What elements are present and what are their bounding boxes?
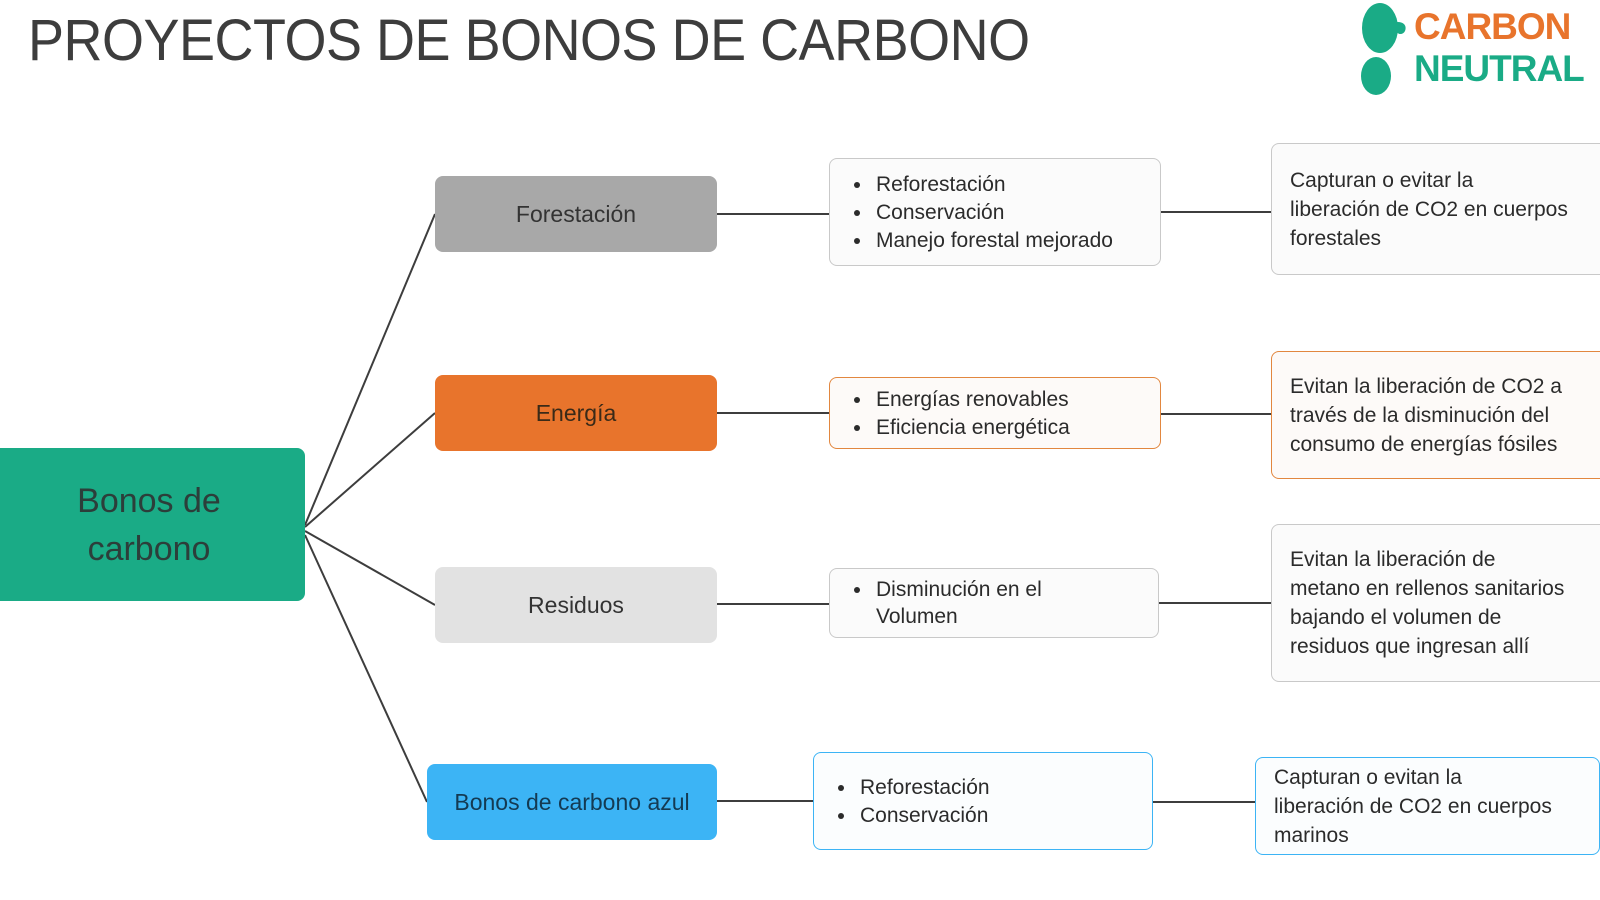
connector-root-to-azul — [305, 535, 427, 802]
logo-line-carbon: CARBON — [1414, 6, 1600, 48]
description-text: Capturan o evitan la liberación de CO2 e… — [1274, 763, 1552, 850]
description-box-energia[interactable]: Evitan la liberación de CO2 a través de … — [1271, 351, 1600, 479]
connector-root-to-energia — [305, 413, 435, 527]
description-box-forestacion[interactable]: Capturan o evitar la liberación de CO2 e… — [1271, 143, 1600, 275]
description-box-bonos-de-carbono-azul[interactable]: Capturan o evitan la liberación de CO2 e… — [1255, 757, 1600, 855]
category-node-forestacion[interactable]: Forestación — [435, 176, 717, 252]
category-label: Bonos de carbono azul — [454, 787, 689, 817]
list: Reforestación Conservación Manejo forest… — [830, 170, 1160, 255]
list-item: Reforestación — [852, 171, 1144, 198]
description-box-residuos[interactable]: Evitan la liberación de metano en rellen… — [1271, 524, 1600, 682]
list-item: Disminución en el Volumen — [852, 576, 1042, 630]
root-node-label: Bonos de carbono — [17, 477, 281, 573]
category-node-bonos-de-carbono-azul[interactable]: Bonos de carbono azul — [427, 764, 717, 840]
category-label: Forestación — [516, 199, 636, 229]
category-node-residuos[interactable]: Residuos — [435, 567, 717, 643]
list-item: Energías renovables — [852, 386, 1144, 413]
list-item: Conservación — [852, 199, 1144, 226]
root-node-bonos-de-carbono[interactable]: Bonos de carbono — [0, 448, 305, 601]
category-node-energia[interactable]: Energía — [435, 375, 717, 451]
item-list-forestacion[interactable]: Reforestación Conservación Manejo forest… — [829, 158, 1161, 266]
item-list-residuos[interactable]: Disminución en el Volumen — [829, 568, 1159, 638]
logo-wordmark: CARBON NEUTRAL — [1414, 6, 1600, 90]
list-item: Reforestación — [836, 774, 1136, 801]
description-text: Evitan la liberación de CO2 a través de … — [1290, 372, 1562, 459]
item-list-bonos-de-carbono-azul[interactable]: Reforestación Conservación — [813, 752, 1153, 850]
list-item: Eficiencia energética — [852, 414, 1144, 441]
carbon-neutral-logo: CARBON NEUTRAL — [1352, 2, 1600, 98]
logo-line-neutral: NEUTRAL — [1414, 48, 1600, 90]
connector-root-to-residuos — [305, 531, 435, 605]
page-title: PROYECTOS DE BONOS DE CARBONO — [28, 6, 1030, 76]
list: Energías renovables Eficiencia energétic… — [830, 385, 1160, 442]
description-text: Evitan la liberación de metano en rellen… — [1290, 545, 1564, 661]
item-list-energia[interactable]: Energías renovables Eficiencia energétic… — [829, 377, 1161, 449]
footprint-icon — [1352, 2, 1414, 98]
category-label: Energía — [536, 398, 617, 428]
list: Reforestación Conservación — [814, 773, 1152, 830]
diagram-canvas: PROYECTOS DE BONOS DE CARBONO CARBON NEU… — [0, 0, 1600, 900]
list: Disminución en el Volumen — [830, 575, 1158, 631]
connector-root-to-forestacion — [305, 214, 435, 525]
category-label: Residuos — [528, 590, 624, 620]
list-item: Conservación — [836, 802, 1136, 829]
list-item: Manejo forestal mejorado — [852, 227, 1144, 254]
description-text: Capturan o evitar la liberación de CO2 e… — [1290, 166, 1568, 253]
